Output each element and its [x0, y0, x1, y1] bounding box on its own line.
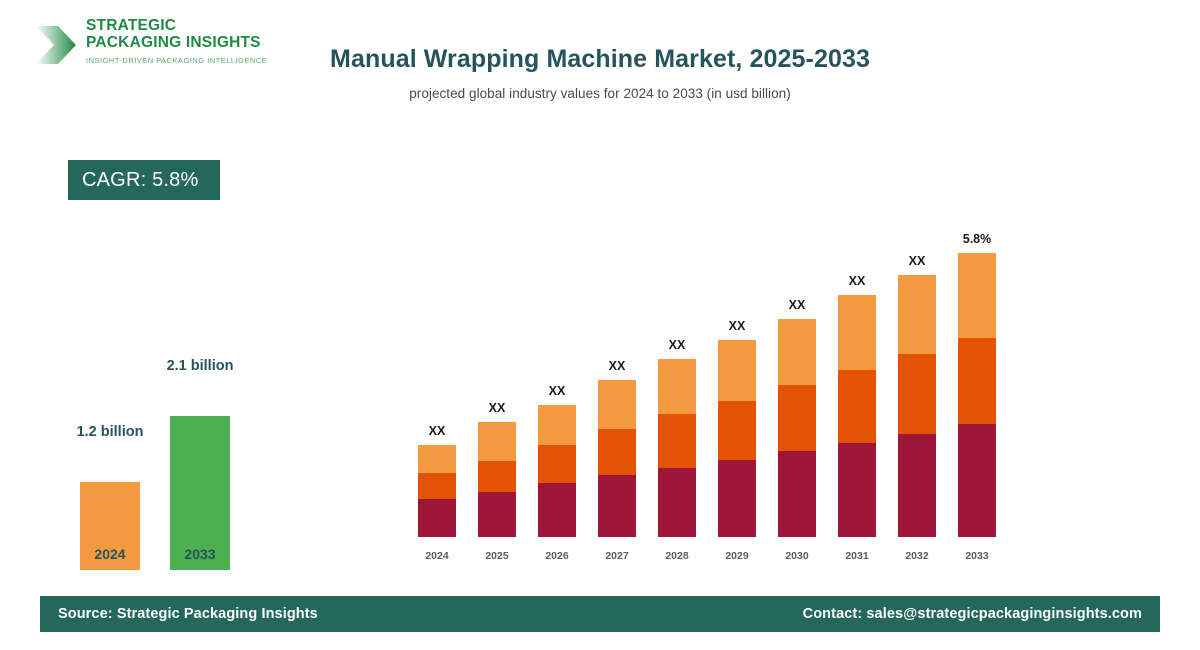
- stacked-bar-segment: [718, 340, 756, 401]
- comparison-bar-chart: 1.2 billion20242.1 billion2033: [40, 300, 300, 570]
- stacked-bar-segment: [658, 359, 696, 414]
- stacked-bar-segment: [838, 370, 876, 442]
- stacked-bar-year-label: 2032: [898, 550, 936, 562]
- stacked-bar-segment: [898, 275, 936, 354]
- stacked-bar-segment: [598, 475, 636, 537]
- stacked-bar-segment: [898, 434, 936, 537]
- stacked-bar-segment: [538, 405, 576, 444]
- stacked-bar-segment: [478, 492, 516, 537]
- comparison-bar-value-label: 1.2 billion: [35, 424, 185, 440]
- stacked-bar-segment: [958, 338, 996, 424]
- stacked-bar-segment: [718, 401, 756, 460]
- stacked-bar-value-label: XX: [538, 384, 576, 398]
- stacked-bar-value-label: XX: [658, 338, 696, 352]
- stacked-bar-segment: [658, 414, 696, 468]
- stacked-bar-segment: [778, 451, 816, 537]
- stacked-bar: [538, 405, 576, 537]
- stacked-bar-year-label: 2028: [658, 550, 696, 562]
- stacked-bar: [778, 319, 816, 537]
- stacked-bar-segment: [958, 253, 996, 338]
- stacked-bar-value-label: XX: [478, 401, 516, 415]
- stacked-bar-segment: [538, 445, 576, 483]
- footer-contact: Contact: sales@strategicpackaginginsight…: [803, 606, 1142, 622]
- stacked-bar-year-label: 2027: [598, 550, 636, 562]
- comparison-bar-year-label: 2033: [155, 546, 245, 562]
- stacked-bar-value-label: XX: [778, 298, 816, 312]
- stacked-bar: [898, 275, 936, 537]
- stacked-bar-segment: [478, 422, 516, 461]
- logo-line-2: PACKAGING INSIGHTS: [86, 35, 267, 52]
- green-chevron-icon: [34, 22, 78, 68]
- stacked-bar: [478, 422, 516, 537]
- stacked-bar: [838, 295, 876, 537]
- stacked-bar-segment: [658, 468, 696, 537]
- stacked-bar-year-label: 2033: [958, 550, 996, 562]
- stacked-bar-value-label: XX: [418, 424, 456, 438]
- footer-bar: Source: Strategic Packaging Insights Con…: [40, 596, 1160, 632]
- stacked-bar-segment: [598, 380, 636, 430]
- stacked-bar-year-label: 2024: [418, 550, 456, 562]
- stacked-bar-year-label: 2030: [778, 550, 816, 562]
- stacked-bar-year-label: 2029: [718, 550, 756, 562]
- page-subtitle: projected global industry values for 202…: [300, 86, 900, 101]
- stacked-bar-segment: [718, 460, 756, 537]
- stacked-bar-segment: [418, 499, 456, 537]
- stacked-bar-value-label: 5.8%: [958, 232, 996, 246]
- stacked-bar-value-label: XX: [838, 274, 876, 288]
- stacked-bar-segment: [778, 385, 816, 451]
- title-block: Manual Wrapping Machine Market, 2025-203…: [300, 40, 900, 101]
- stacked-bar-segment: [418, 473, 456, 499]
- stacked-bar-segment: [958, 424, 996, 537]
- stacked-bar-year-label: 2031: [838, 550, 876, 562]
- stacked-bar-segment: [838, 443, 876, 537]
- stacked-bar-segment: [598, 429, 636, 475]
- stacked-bar: [958, 253, 996, 537]
- stacked-bar-value-label: XX: [598, 359, 636, 373]
- page-title: Manual Wrapping Machine Market, 2025-203…: [300, 40, 900, 78]
- comparison-bar-value-label: 2.1 billion: [125, 358, 275, 374]
- stacked-bar-year-label: 2026: [538, 550, 576, 562]
- stacked-bar-segment: [898, 354, 936, 434]
- stacked-bar-value-label: XX: [898, 254, 936, 268]
- brand-logo: STRATEGIC PACKAGING INSIGHTS INSIGHT-DRI…: [34, 16, 284, 76]
- logo-line-1: STRATEGIC: [86, 18, 267, 35]
- stacked-bar-value-label: XX: [718, 319, 756, 333]
- stacked-bar-segment: [478, 461, 516, 492]
- stacked-bar-segment: [838, 295, 876, 370]
- cagr-badge: CAGR: 5.8%: [68, 160, 220, 200]
- logo-tagline: INSIGHT-DRIVEN PACKAGING INTELLIGENCE: [86, 56, 267, 65]
- comparison-bar-year-label: 2024: [65, 546, 155, 562]
- stacked-bar-segment: [538, 483, 576, 537]
- stacked-bar: [658, 359, 696, 537]
- stacked-bar: [718, 340, 756, 537]
- stacked-bar-chart: XX2024XX2025XX2026XX2027XX2028XX2029XX20…: [400, 200, 1020, 570]
- brand-wordmark: STRATEGIC PACKAGING INSIGHTS INSIGHT-DRI…: [86, 18, 267, 65]
- stacked-bar: [418, 445, 456, 537]
- stacked-bar-year-label: 2025: [478, 550, 516, 562]
- stacked-bar-segment: [418, 445, 456, 474]
- footer-source: Source: Strategic Packaging Insights: [58, 606, 318, 622]
- stacked-bar: [598, 380, 636, 537]
- stacked-bar-segment: [778, 319, 816, 386]
